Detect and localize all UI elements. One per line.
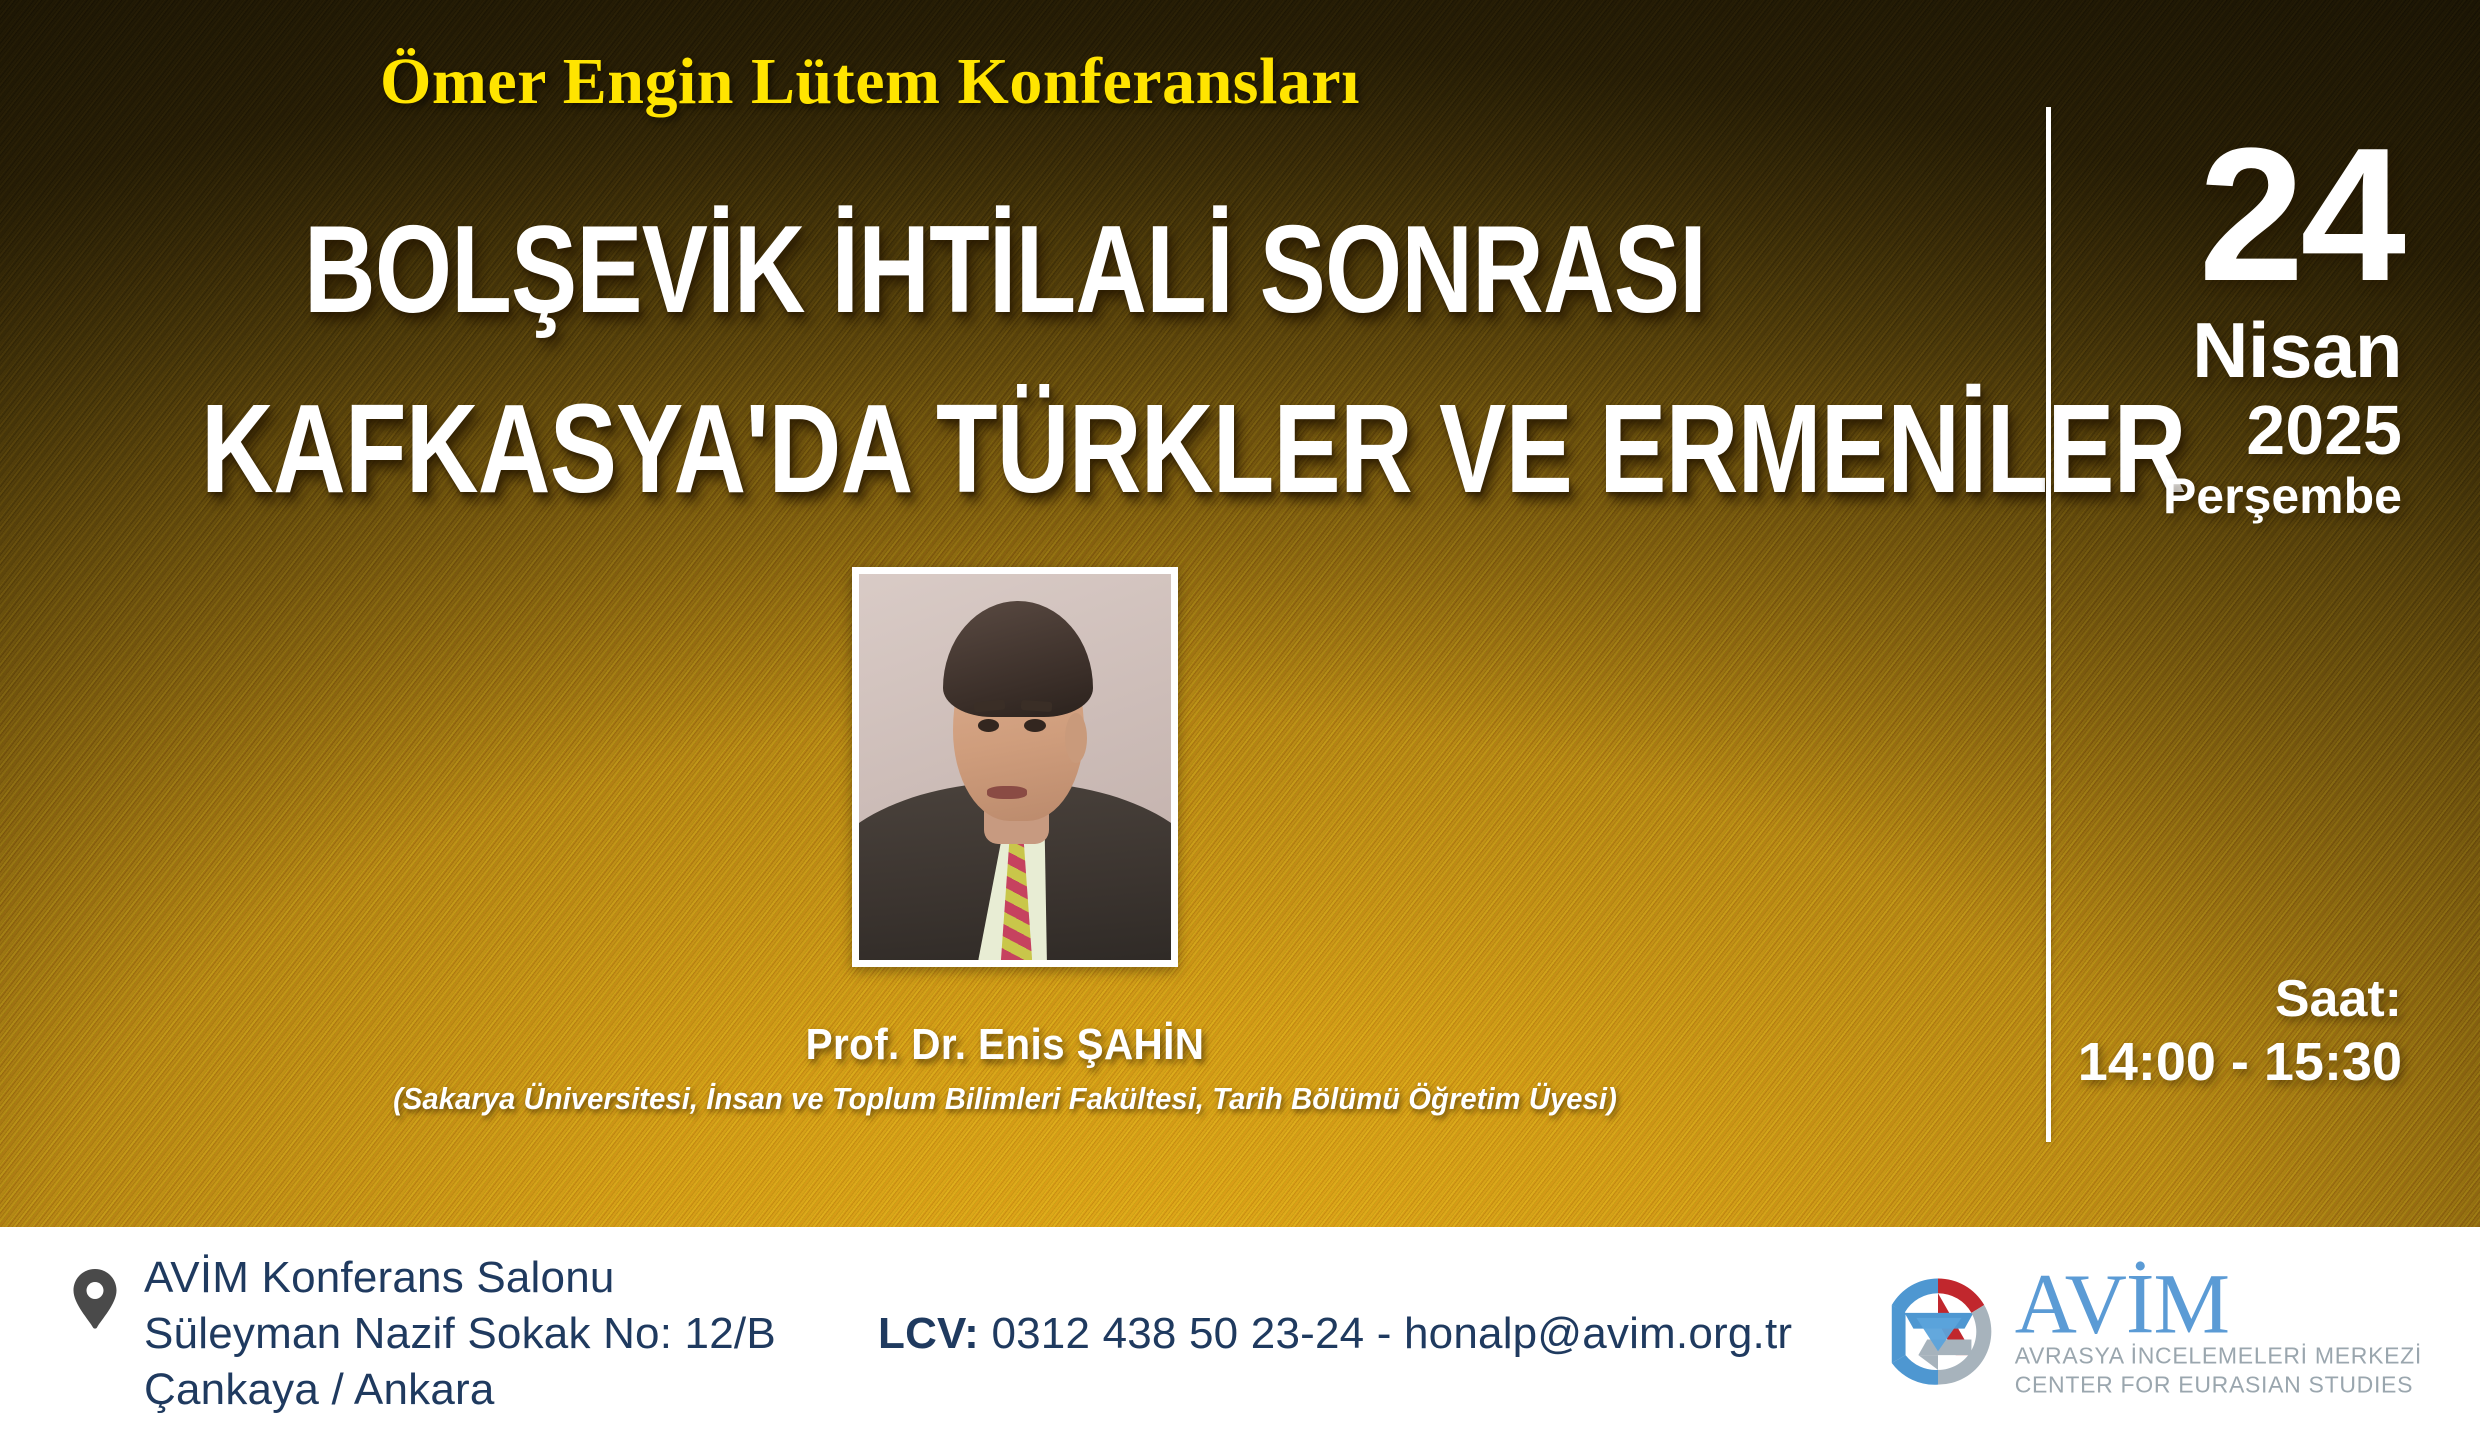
speaker-affiliation: (Sakarya Üniversitesi, İnsan ve Toplum B… — [60, 1081, 1949, 1117]
avim-wordmark-block: AVİM AVRASYA İNCELEMELERİ MERKEZİ CENTER… — [2015, 1268, 2422, 1401]
event-year: 2025 — [2042, 395, 2402, 465]
photo-eye-right — [1024, 719, 1046, 732]
event-time-label: Saat: — [1982, 972, 2402, 1027]
event-day: 24 — [2042, 128, 2402, 303]
photo-hair — [943, 601, 1093, 717]
rsvp-label: LCV: — [878, 1309, 979, 1358]
event-time-value: 14:00 - 15:30 — [1982, 1031, 2402, 1093]
event-time-block: Saat: 14:00 - 15:30 — [1982, 972, 2402, 1093]
avim-emblem-icon — [1879, 1272, 1997, 1395]
event-month: Nisan — [2042, 311, 2402, 389]
rsvp-contact: LCV: 0312 438 50 23-24 - honalp@avim.org… — [878, 1309, 1792, 1359]
event-weekday: Perşembe — [2042, 471, 2402, 521]
venue-line-3: Çankaya / Ankara — [144, 1362, 776, 1418]
photo-ear — [1065, 713, 1087, 763]
avim-logo: AVİM AVRASYA İNCELEMELERİ MERKEZİ CENTER… — [1879, 1268, 2422, 1401]
speaker-photo-frame — [852, 567, 1178, 967]
avim-wordmark: AVİM — [2015, 1268, 2422, 1342]
venue-block: AVİM Konferans Salonu Süleyman Nazif Sok… — [72, 1250, 842, 1419]
speaker-block: Prof. Dr. Enis ŞAHİN (Sakarya Üniversite… — [0, 1020, 2010, 1117]
rsvp-value: 0312 438 50 23-24 - honalp@avim.org.tr — [991, 1309, 1792, 1358]
conference-poster: Ömer Engin Lütem Konferansları BOLŞEVİK … — [0, 0, 2480, 1441]
event-title: BOLŞEVİK İHTİLALİ SONRASI KAFKASYA'DA TÜ… — [0, 205, 2010, 516]
event-title-line-1: BOLŞEVİK İHTİLALİ SONRASI — [201, 205, 1809, 336]
poster-footer: AVİM Konferans Salonu Süleyman Nazif Sok… — [0, 1227, 2480, 1441]
event-title-line-2: KAFKASYA'DA TÜRKLER VE ERMENİLER — [201, 382, 1809, 516]
venue-line-1: AVİM Konferans Salonu — [144, 1250, 776, 1306]
event-date-block: 24 Nisan 2025 Perşembe — [2042, 128, 2402, 521]
photo-eye-left — [978, 719, 1000, 732]
avim-subtitle-en: CENTER FOR EURASIAN STUDIES — [2015, 1371, 2422, 1400]
speaker-name: Prof. Dr. Enis ŞAHİN — [80, 1020, 1929, 1070]
photo-mouth — [987, 786, 1028, 798]
venue-line-2: Süleyman Nazif Sokak No: 12/B — [144, 1306, 776, 1362]
location-pin-icon — [72, 1268, 118, 1335]
conference-series-title: Ömer Engin Lütem Konferansları — [0, 44, 2480, 120]
speaker-photo — [859, 574, 1171, 960]
venue-address: AVİM Konferans Salonu Süleyman Nazif Sok… — [144, 1250, 776, 1419]
